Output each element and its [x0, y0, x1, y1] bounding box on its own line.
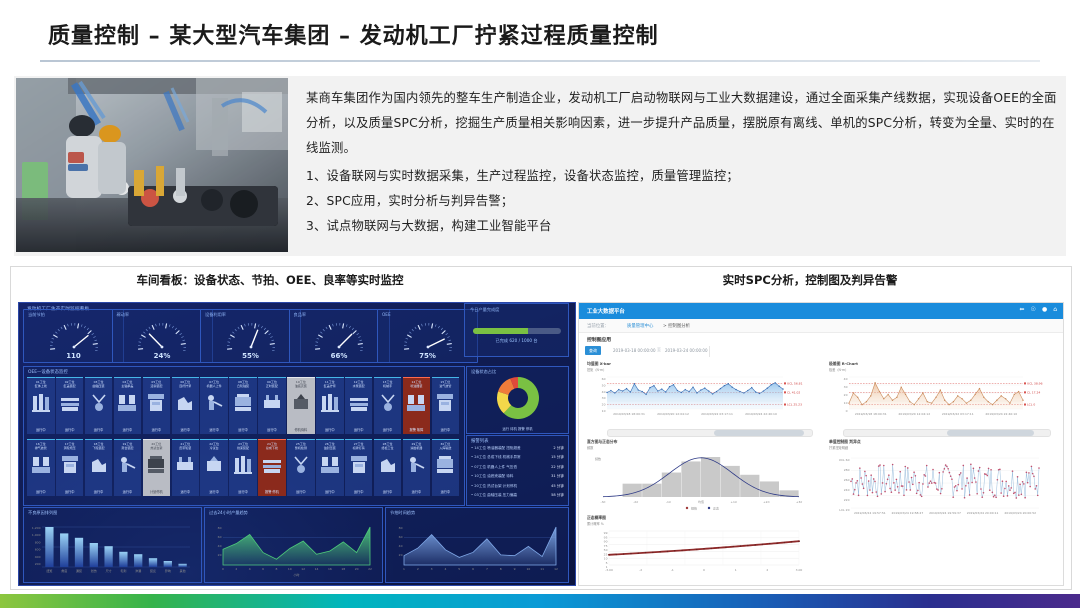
pareto-bar [119, 552, 127, 567]
svg-text:漏装: 漏装 [76, 568, 82, 573]
equipment-icon-wrap [378, 392, 398, 418]
svg-text:2019/03/18 18:00:31: 2019/03/18 18:00:31 [855, 412, 887, 416]
xbar-chart: 605040302010UCL 56.81CL 41.02LCL 25.2320… [585, 371, 817, 423]
equipment-status: 运行中 [114, 489, 142, 494]
svg-text:UCL 60: UCL 60 [839, 458, 850, 462]
equipment-status: 运行中 [172, 427, 200, 432]
breadcrumb-link[interactable]: 质量管理中心 [627, 323, 653, 329]
svg-text:800: 800 [35, 540, 41, 544]
equipment-status: 运行中 [374, 489, 402, 494]
pareto-bar [60, 533, 68, 567]
machine-icon [291, 454, 311, 476]
output-progress-fill [473, 328, 528, 334]
breadcrumb-home: 当前位置： [587, 323, 609, 329]
share-icon[interactable]: ⇚ [1020, 306, 1025, 314]
svg-text:10: 10 [844, 401, 848, 405]
svg-text:-1σ: -1σ [666, 500, 671, 504]
svg-text:20: 20 [602, 403, 606, 407]
equipment-name: 09工位正时装配 [258, 380, 286, 388]
alarm-list-item[interactable]: • 14工位 喷油器装配 扭矩超差2 分钟 [471, 446, 564, 455]
equipment-icon-wrap [31, 392, 51, 418]
equipment-icon-wrap [89, 392, 109, 418]
equipment-cell[interactable]: 14工位喷油器装报警 故障 [403, 377, 431, 434]
equipment-cell[interactable]: 11工位缸盖拧紧运行中 [316, 377, 344, 434]
svg-text:2019/03/24 19:58:47: 2019/03/24 19:58:47 [892, 511, 924, 515]
svg-text:200: 200 [35, 562, 41, 566]
spc-window-title: 工业大数据平台 [587, 307, 625, 315]
equipment-name: 28工位终检工位 [374, 442, 402, 450]
alarm-list-item[interactable]: • 07工位 机器人上件 气压低22 分钟 [471, 465, 564, 474]
equipment-status: 运行中 [229, 489, 257, 494]
gauge-value: 55% [201, 352, 300, 360]
area-series [404, 527, 556, 565]
svg-text:30: 30 [844, 385, 848, 389]
machine-icon [204, 454, 224, 476]
svg-text:20: 20 [355, 567, 359, 571]
alarm-list-item[interactable]: • 20工位 热试台架 计划停机45 分钟 [471, 484, 564, 493]
date-from-input[interactable]: 2019-03-18 00:00:00 [613, 348, 655, 353]
output-progress-label: 今日产量完成度 [470, 307, 499, 313]
svg-text:10: 10 [602, 409, 606, 413]
left-section-heading: 车间看板：设备状态、节拍、OEE、良率等实时监控 [70, 272, 470, 288]
rchart: 403020100UCL 38.96CL 17.24LCL 02019/03/1… [827, 371, 1057, 423]
svg-text:80: 80 [218, 526, 222, 530]
machine-icon [378, 454, 398, 476]
equipment-status: 运行中 [56, 489, 84, 494]
svg-text:2: 2 [417, 567, 419, 571]
spc-section-label: 控制图应用 [587, 336, 611, 343]
alarm-list-heading: 报警列表 [471, 438, 489, 444]
equipment-icon-wrap [204, 392, 224, 418]
equipment-name: 24工位总成下线 [258, 442, 286, 450]
equipment-icon-wrap [291, 392, 311, 418]
svg-text:-3σ: -3σ [601, 500, 606, 504]
equipment-cell[interactable]: 05工位活塞装配运行中 [143, 377, 171, 434]
equipment-cell[interactable]: 16工位排气歧管运行中 [27, 439, 55, 496]
equipment-icon-wrap [175, 392, 195, 418]
equipment-status: 报警 故障 [403, 427, 431, 432]
svg-text:-2σ: -2σ [633, 500, 638, 504]
equipment-name: 14工位喷油器装 [403, 380, 431, 388]
equipment-cell[interactable]: 10工位油底壳装停机待料 [287, 377, 315, 434]
svg-text:1,000: 1,000 [32, 533, 41, 537]
alarm-time: 58 分钟 [551, 493, 564, 498]
svg-text:-2: -2 [639, 568, 642, 572]
equipment-name: 02工位缸盖装配 [56, 380, 84, 388]
individuals-series [851, 464, 1039, 498]
equipment-icon-wrap [117, 454, 137, 480]
equipment-status: 计划停机 [143, 489, 171, 494]
equipment-cell[interactable]: 06工位连杆拧紧运行中 [172, 377, 200, 434]
machine-icon [204, 392, 224, 414]
status-donut-chart [495, 375, 541, 421]
svg-text:10: 10 [288, 567, 292, 571]
gauge-dial [400, 317, 456, 351]
equipment-icon-wrap [60, 392, 80, 418]
individuals-chart: UCL 60280260240220LCL 202019/03/24 19:57… [827, 450, 1057, 528]
svg-text:CL 41.02: CL 41.02 [787, 391, 800, 395]
machine-icon [233, 392, 253, 414]
equipment-name: 10工位油底壳装 [287, 380, 315, 388]
svg-text:8: 8 [500, 567, 502, 571]
equipment-name: 25工位整机检测 [287, 442, 315, 450]
svg-text:14: 14 [315, 567, 319, 571]
svg-text:+1σ: +1σ [731, 500, 737, 504]
footer-gradient-bar [0, 594, 1080, 608]
individuals-chart-card: 单值控制图 判异点 拧紧扭矩明细 UCL 60280260240220LCL 2… [827, 443, 1057, 531]
gauge-label: 稼动率 [117, 312, 130, 318]
svg-text:60: 60 [218, 535, 222, 539]
equipment-cell[interactable]: 12工位水泵装配运行中 [345, 377, 373, 434]
equipment-name: 29工位涂胶机器 [403, 442, 431, 450]
svg-text:划伤: 划伤 [91, 568, 97, 573]
svg-text:18: 18 [341, 567, 345, 571]
status-donut-card: 设备状态占比 运行 待机 报警 停机 [466, 366, 569, 434]
equipment-status: 运行中 [85, 427, 113, 432]
intro-text: 某商车集团作为国内领先的整车生产制造企业，发动机工厂启动物联网与工业大数据建设，… [306, 86, 1062, 239]
svg-text:2019/03/18 18:00:31: 2019/03/18 18:00:31 [613, 412, 645, 416]
equipment-name: 19工位离合装配 [114, 442, 142, 450]
machine-icon [31, 454, 51, 476]
alarm-list-card: 报警列表 • 14工位 喷油器装配 扭矩超差2 分钟• 24工位 总成下线 机械… [466, 435, 569, 506]
pareto-bar [164, 561, 172, 567]
svg-text:小时: 小时 [293, 572, 299, 577]
machine-icon [406, 454, 426, 476]
gauge-card-1: 稼动率24% [112, 309, 213, 363]
equipment-icon-wrap [204, 454, 224, 480]
output-progress-track [473, 328, 561, 334]
svg-text:80: 80 [399, 526, 403, 530]
equipment-cell[interactable]: 28工位终检工位运行中 [374, 439, 402, 496]
equipment-cell[interactable]: 26工位油封压装运行中 [316, 439, 344, 496]
equipment-status: 运行中 [287, 489, 315, 494]
equipment-icon-wrap [117, 392, 137, 418]
alarm-time: 45 分钟 [551, 484, 564, 489]
alarm-time: 2 分钟 [553, 446, 564, 451]
svg-text:CL 17.24: CL 17.24 [1027, 391, 1040, 395]
filter-divider [709, 346, 710, 357]
alarm-text: • 07工位 机器人上件 气压低 [471, 465, 517, 470]
equipment-cell[interactable]: 15工位进气歧管运行中 [432, 377, 460, 434]
equipment-status: 运行中 [316, 427, 344, 432]
equipment-icon-wrap [233, 392, 253, 418]
equipment-icon-wrap [89, 454, 109, 480]
svg-text:22: 22 [368, 567, 372, 571]
equipment-name: 06工位连杆拧紧 [172, 380, 200, 388]
machine-icon [320, 454, 340, 476]
svg-text:2019/03/24 19:59:37: 2019/03/24 19:59:37 [929, 511, 961, 515]
probability-plot: 9995907550251051-3.00-2-10123.00 [585, 525, 817, 581]
svg-text:2019/03/24 19:57:51: 2019/03/24 19:57:51 [854, 511, 886, 515]
equipment-name: 05工位活塞装配 [143, 380, 171, 388]
svg-text:3.00: 3.00 [796, 568, 803, 572]
svg-text:400: 400 [35, 555, 41, 559]
alarm-list-item[interactable]: • 24工位 总成下线 机械手异常15 分钟 [471, 455, 564, 464]
equipment-status: 运行中 [229, 427, 257, 432]
svg-text:220: 220 [844, 498, 850, 502]
equipment-name: 12工位水泵装配 [345, 380, 373, 388]
spc-application-window: 工业大数据平台 ⇚ ☉ ● ⌂ 当前位置： 质量管理中心 > 控制图分析 控制图… [578, 302, 1064, 586]
bell-icon[interactable]: ☉ [1031, 306, 1036, 314]
equipment-icon-wrap [349, 392, 369, 418]
equipment-icon-wrap [31, 454, 51, 480]
equipment-cell[interactable]: 27工位标牌打码运行中 [345, 439, 373, 496]
gauge-dial [46, 317, 102, 351]
intro-bullet-2: 2、SPC应用，实时分析与判异告警； [306, 189, 1062, 214]
equipment-name: 26工位油封压装 [316, 442, 344, 450]
output-progress-caption: 已完成 620 / 1000 台 [465, 338, 568, 344]
section-headings: 车间看板：设备状态、节拍、OEE、良率等实时监控 实时SPC分析，控制图及判异告… [10, 272, 1070, 298]
alarm-text: • 10工位 油底壳装配 待料 [471, 474, 513, 479]
gauge-value: 75% [378, 352, 477, 360]
equipment-cell[interactable]: 09工位正时装配运行中 [258, 377, 286, 434]
machine-icon [117, 392, 137, 414]
svg-text:20: 20 [218, 553, 222, 557]
equipment-cell[interactable]: 02工位缸盖装配运行中 [56, 377, 84, 434]
machine-icon [349, 392, 369, 414]
svg-text:均值: 均值 [698, 499, 704, 504]
equipment-cell[interactable]: 23工位线束装配运行中 [229, 439, 257, 496]
gauge-value: 66% [290, 352, 389, 360]
svg-text:11: 11 [540, 567, 544, 571]
alarm-text: • 24工位 总成下线 机械手异常 [471, 455, 521, 460]
svg-text:规格: 规格 [691, 506, 697, 511]
takt-trend-title: 节拍时间趋势 [390, 510, 415, 516]
equipment-status: 运行中 [200, 489, 228, 494]
equipment-icon-wrap [262, 392, 282, 418]
machine-icon [262, 454, 282, 476]
machine-icon [60, 392, 80, 414]
equipment-status: 运行中 [316, 489, 344, 494]
equipment-icon-wrap [233, 454, 253, 480]
equipment-icon-wrap [378, 454, 398, 480]
equipment-icon-wrap [320, 454, 340, 480]
equipment-name: 23工位线束装配 [229, 442, 257, 450]
equipment-status: 运行中 [258, 427, 286, 432]
svg-text:50: 50 [602, 383, 606, 387]
alarm-list-item[interactable]: • 10工位 油底壳装配 待料31 分钟 [471, 474, 564, 483]
equipment-icon-wrap [406, 392, 426, 418]
svg-text:频数: 频数 [595, 456, 601, 461]
pareto-bar [149, 558, 157, 567]
equipment-icon-wrap [349, 454, 369, 480]
title-block: 质量控制 – 某大型汽车集团 – 发动机工厂拧紧过程质量控制 [0, 18, 1080, 70]
machine-icon [233, 454, 253, 476]
machine-icon [117, 454, 137, 476]
pareto-chart-title: 不良原因排列图 [28, 510, 57, 516]
gauge-dial [223, 317, 279, 351]
equipment-name: 18工位飞轮装配 [85, 442, 113, 450]
machine-icon [291, 392, 311, 414]
machine-icon [378, 392, 398, 414]
equipment-cell[interactable]: 03工位曲轴压装运行中 [85, 377, 113, 434]
pareto-bar [45, 527, 53, 567]
equipment-cell[interactable]: 20工位热试台架计划停机 [143, 439, 171, 496]
user-icon[interactable]: ● [1042, 306, 1047, 314]
equipment-cell[interactable]: 17工位涡轮增压运行中 [56, 439, 84, 496]
status-donut-legend: 运行 待机 报警 停机 [467, 426, 568, 431]
histogram-bar [740, 475, 759, 497]
machine-icon [406, 392, 426, 414]
factory-photo [16, 78, 288, 252]
svg-text:16: 16 [328, 567, 332, 571]
title-divider [40, 60, 1040, 62]
equipment-icon-wrap [291, 454, 311, 480]
svg-text:角度: 角度 [61, 568, 67, 573]
equipment-row-2: 16工位排气歧管运行中17工位涡轮增压运行中18工位飞轮装配运行中19工位离合装… [27, 439, 461, 497]
equipment-cell[interactable]: 29工位涂胶机器运行中 [403, 439, 431, 496]
svg-text:280: 280 [844, 468, 850, 472]
equipment-icon-wrap [406, 454, 426, 480]
equipment-status: 运行中 [85, 489, 113, 494]
svg-text:2019/03/20 12:04:12: 2019/03/20 12:04:12 [898, 412, 930, 416]
equipment-cell[interactable]: 04工位主轴承盖运行中 [114, 377, 142, 434]
gauge-card-0: 当前节拍110 [23, 309, 124, 363]
svg-text:40: 40 [399, 544, 403, 548]
equipment-cell[interactable]: 19工位离合装配运行中 [114, 439, 142, 496]
control-chart-area [607, 383, 783, 409]
svg-text:40: 40 [602, 390, 606, 394]
gauge-label: OEE [382, 312, 391, 317]
alarm-list-item[interactable]: • 03工位 曲轴压装 压力偏高58 分钟 [471, 493, 564, 502]
alarm-text: • 14工位 喷油器装配 扭矩超差 [471, 446, 521, 451]
equipment-icon-wrap [60, 454, 80, 480]
svg-text:LCL 20: LCL 20 [839, 508, 849, 512]
equipment-status: 运行中 [374, 427, 402, 432]
gauge-dial [311, 317, 367, 351]
machine-icon [89, 392, 109, 414]
equipment-status: 运行中 [432, 489, 460, 494]
equipment-icon-wrap [146, 454, 166, 480]
equipment-status: 运行中 [27, 427, 55, 432]
machine-icon [175, 454, 195, 476]
help-icon[interactable]: ⌂ [1053, 306, 1057, 314]
equipment-cell[interactable]: 13工位机械手运行中 [374, 377, 402, 434]
svg-text:260: 260 [844, 478, 850, 482]
gauge-card-4: OEE75% [377, 309, 478, 363]
svg-text:扭矩: 扭矩 [46, 568, 52, 573]
svg-text:LCL 0: LCL 0 [1027, 403, 1035, 407]
equipment-cell[interactable]: 01工位缸体上线运行中 [27, 377, 55, 434]
gauge-label: 当前节拍 [28, 312, 45, 318]
svg-text:12: 12 [554, 567, 558, 571]
equipment-cell[interactable]: 07工位机器人上件运行中 [200, 377, 228, 434]
equipment-status: 运行中 [114, 427, 142, 432]
intro-bullet-1: 1、设备联网与实时数据采集，生产过程监控，设备状态监控，质量管理监控； [306, 164, 1062, 189]
takt-trend-chart: 80604020123456789101112 [388, 517, 564, 579]
gauge-dial [134, 317, 190, 351]
svg-text:渗漏: 渗漏 [135, 568, 141, 573]
equipment-name: 15工位进气歧管 [432, 380, 460, 388]
equipment-name: 16工位排气歧管 [27, 442, 55, 450]
svg-text:+3σ: +3σ [796, 500, 802, 504]
equipment-icon-wrap [320, 392, 340, 418]
rchart-scrollbar[interactable] [843, 429, 1051, 437]
equipment-name: 11工位缸盖拧紧 [316, 380, 344, 388]
svg-text:240: 240 [844, 488, 850, 492]
equipment-name: 13工位机械手 [374, 380, 402, 388]
probability-line [609, 541, 799, 555]
equipment-status-block: OEE—设备状态监控 01工位缸体上线运行中02工位缸盖装配运行中03工位曲轴压… [23, 366, 465, 506]
svg-text:2019/03/24 22:40:10: 2019/03/24 22:40:10 [745, 412, 777, 416]
machine-icon [89, 454, 109, 476]
machine-icon [349, 454, 369, 476]
alarm-time: 31 分钟 [551, 474, 564, 479]
machine-icon [435, 392, 455, 414]
equipment-cell[interactable]: 25工位整机检测运行中 [287, 439, 315, 496]
equipment-status: 报警 停机 [258, 489, 286, 494]
equipment-name: 01工位缸体上线 [27, 380, 55, 388]
equipment-name: 07工位机器人上件 [200, 380, 228, 388]
svg-text:UCL 56.81: UCL 56.81 [787, 382, 803, 386]
equipment-cell[interactable]: 22工位冷试台运行中 [200, 439, 228, 496]
equipment-cell[interactable]: 21工位皮带轮装运行中 [172, 439, 200, 496]
svg-text:毛刺: 毛刺 [120, 568, 126, 573]
machine-icon [262, 392, 282, 414]
svg-text:4: 4 [249, 567, 251, 571]
equipment-cell[interactable]: 24工位总成下线报警 停机 [258, 439, 286, 496]
equipment-name: 22工位冷试台 [200, 442, 228, 450]
equipment-name: 21工位皮带轮装 [172, 442, 200, 450]
rchart-card: 极差图 R-Chart 极差（N·m） 403020100UCL 38.96CL… [827, 361, 1057, 427]
slide-root: 质量控制 – 某大型汽车集团 – 发动机工厂拧紧过程质量控制 [0, 0, 1080, 608]
svg-text:1: 1 [403, 567, 405, 571]
machine-icon [31, 392, 51, 414]
svg-text:其他: 其他 [180, 568, 186, 573]
equipment-icon-wrap [435, 392, 455, 418]
svg-text:6: 6 [262, 567, 264, 571]
xbar-scrollbar[interactable] [607, 429, 813, 437]
alarm-text: • 03工位 曲轴压装 压力偏高 [471, 493, 517, 498]
equipment-icon-wrap [435, 454, 455, 480]
equipment-cell[interactable]: 18工位飞轮装配运行中 [85, 439, 113, 496]
svg-text:30: 30 [602, 396, 606, 400]
svg-text:2: 2 [235, 567, 237, 571]
svg-text:2019/03/20 12:04:12: 2019/03/20 12:04:12 [657, 412, 689, 416]
svg-text:12: 12 [301, 567, 305, 571]
svg-text:-3.00: -3.00 [605, 568, 613, 572]
equipment-name: 27工位标牌打码 [345, 442, 373, 450]
pareto-chart-card: 不良原因排列图 1,2001,000800600400200扭矩角度漏装划伤尺寸… [23, 507, 202, 583]
breadcrumb-current: > 控制图分析 [663, 323, 690, 329]
svg-text:4: 4 [444, 567, 446, 571]
svg-text:UCL 38.96: UCL 38.96 [1027, 382, 1043, 386]
probability-plot-card: 正态概率图 累计概率 % 9995907550251051-3.00-2-101… [585, 517, 817, 583]
spc-titlebar-icons: ⇚ ☉ ● ⌂ [1020, 306, 1057, 314]
control-chart-area [849, 383, 1023, 409]
equipment-icon-wrap [146, 392, 166, 418]
area-series [223, 527, 370, 565]
svg-text:-1: -1 [671, 568, 674, 572]
right-section-heading: 实时SPC分析，控制图及判异告警 [610, 272, 1010, 288]
equipment-cell[interactable]: 08工位凸轮轴装运行中 [229, 377, 257, 434]
svg-text:7: 7 [486, 567, 488, 571]
equipment-cell[interactable]: 30工位入库输送运行中 [432, 439, 460, 496]
histogram-bar [681, 461, 700, 497]
svg-text:2019/03/22 03:17:11: 2019/03/22 03:17:11 [701, 412, 733, 416]
svg-text:正态: 正态 [713, 506, 719, 511]
equipment-status: 运行中 [56, 427, 84, 432]
svg-text:3: 3 [431, 567, 433, 571]
equipment-status: 运行中 [27, 489, 55, 494]
date-to-input[interactable]: 2019-03-24 00:00:00 [665, 348, 707, 353]
svg-text:装反: 装反 [150, 568, 156, 573]
query-button[interactable]: 查询 [585, 346, 601, 355]
equipment-name: 17工位涡轮增压 [56, 442, 84, 450]
histogram-bar [662, 473, 681, 497]
svg-text:40: 40 [218, 544, 222, 548]
pareto-bar [104, 546, 112, 567]
